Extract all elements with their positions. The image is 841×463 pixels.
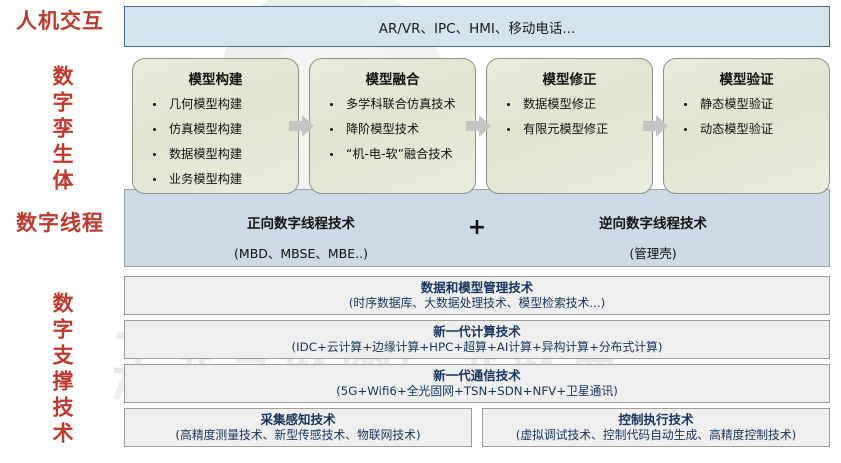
digital-twin-list-item: 数据模型修正 bbox=[493, 97, 646, 111]
digital-twin-box-list: 数据模型修正有限元模型修正 bbox=[493, 97, 646, 136]
rail-label-hmi: 人机交互 bbox=[0, 10, 120, 32]
rail-label-digital-twin: 数字孪生体 bbox=[47, 60, 73, 200]
support-tech-subtitle: (虚拟调试技术、控制代码自动生成、高精度控制技术) bbox=[516, 428, 797, 443]
support-tech-title: 控制执行技术 bbox=[618, 412, 693, 428]
layer-label-rail: 人机交互 数字孪生体 数字线程 数字支撑技术 bbox=[0, 0, 120, 463]
support-tech-title: 数据和模型管理技术 bbox=[421, 280, 534, 296]
support-tech-subtitle: (IDC+云计算+边缘计算+HPC+超算+AI计算+异构计算+分布式计算) bbox=[292, 340, 663, 355]
support-tech-box[interactable]: 新一代通信技术(5G+Wifi6+全光固网+TSN+SDN+NFV+卫星通讯) bbox=[124, 364, 830, 403]
right-arrow-icon bbox=[643, 114, 669, 138]
digital-twin-list-item: 数据模型构建 bbox=[139, 147, 292, 161]
rail-label-digital-thread: 数字线程 bbox=[0, 212, 120, 234]
digital-thread-band: 正向数字线程技术 (MBD、MBSE、MBE..) + 逆向数字线程技术 (管理… bbox=[124, 189, 830, 267]
digital-thread-reverse: 逆向数字线程技术 (管理壳) bbox=[477, 212, 829, 262]
digital-twin-box-2[interactable]: 模型融合多学科联合仿真技术降阶模型技术“机-电-软”融合技术 bbox=[309, 58, 476, 194]
support-tech-box[interactable]: 数据和模型管理技术(时序数据库、大数据处理技术、模型检索技术...) bbox=[124, 276, 830, 315]
support-tech-row: 新一代计算技术(IDC+云计算+边缘计算+HPC+超算+AI计算+异构计算+分布… bbox=[124, 320, 830, 359]
digital-twin-box-3[interactable]: 模型修正数据模型修正有限元模型修正 bbox=[486, 58, 653, 194]
digital-twin-list-item: 仿真模型构建 bbox=[139, 122, 292, 136]
support-tech-subtitle: (高精度测量技术、新型传感技术、物联网技术) bbox=[175, 428, 420, 443]
digital-thread-forward-title: 正向数字线程技术 bbox=[125, 212, 477, 232]
support-tech-box[interactable]: 新一代计算技术(IDC+云计算+边缘计算+HPC+超算+AI计算+异构计算+分布… bbox=[124, 320, 830, 359]
digital-thread-reverse-subtitle: (管理壳) bbox=[477, 243, 829, 262]
digital-twin-row: 模型构建几何模型构建仿真模型构建数据模型构建业务模型构建模型融合多学科联合仿真技… bbox=[132, 58, 830, 198]
digital-twin-list-item: 几何模型构建 bbox=[139, 97, 292, 111]
diagram-root: 工业互联网产业联盟 Alliance of Industrial Interne… bbox=[0, 0, 841, 463]
digital-twin-list-item: 降阶模型技术 bbox=[316, 122, 469, 136]
digital-twin-box-title: 模型修正 bbox=[493, 68, 646, 88]
digital-thread-forward-subtitle: (MBD、MBSE、MBE..) bbox=[125, 243, 477, 262]
digital-twin-box-1[interactable]: 模型构建几何模型构建仿真模型构建数据模型构建业务模型构建 bbox=[132, 58, 299, 194]
support-tech-box[interactable]: 控制执行技术(虚拟调试技术、控制代码自动生成、高精度控制技术) bbox=[482, 408, 830, 447]
support-tech-title: 新一代计算技术 bbox=[433, 324, 521, 340]
support-tech-subtitle: (5G+Wifi6+全光固网+TSN+SDN+NFV+卫星通讯) bbox=[336, 384, 618, 399]
digital-twin-list-item: 有限元模型修正 bbox=[493, 122, 646, 136]
digital-thread-reverse-title: 逆向数字线程技术 bbox=[477, 212, 829, 232]
digital-twin-list-item: 多学科联合仿真技术 bbox=[316, 97, 469, 111]
hmi-layer-box: AR/VR、IPC、HMI、移动电话... bbox=[124, 6, 830, 47]
rail-label-digital-support: 数字支撑技术 bbox=[47, 290, 73, 450]
digital-twin-box-title: 模型验证 bbox=[670, 68, 823, 88]
digital-twin-list-item: 业务模型构建 bbox=[139, 172, 292, 186]
support-tech-subtitle: (时序数据库、大数据处理技术、模型检索技术...) bbox=[349, 296, 605, 311]
support-tech-title: 采集感知技术 bbox=[260, 412, 335, 428]
digital-twin-box-list: 几何模型构建仿真模型构建数据模型构建业务模型构建 bbox=[139, 97, 292, 186]
digital-twin-box-list: 静态模型验证动态模型验证 bbox=[670, 97, 823, 136]
digital-twin-box-list: 多学科联合仿真技术降阶模型技术“机-电-软”融合技术 bbox=[316, 97, 469, 161]
diagram-content: AR/VR、IPC、HMI、移动电话... 正向数字线程技术 (MBD、MBSE… bbox=[124, 0, 832, 463]
digital-twin-list-item: 静态模型验证 bbox=[670, 97, 823, 111]
support-tech-stack: 数据和模型管理技术(时序数据库、大数据处理技术、模型检索技术...)新一代计算技… bbox=[124, 276, 830, 452]
digital-thread-forward: 正向数字线程技术 (MBD、MBSE、MBE..) bbox=[125, 212, 477, 262]
digital-twin-list-item: 动态模型验证 bbox=[670, 122, 823, 136]
support-tech-row: 新一代通信技术(5G+Wifi6+全光固网+TSN+SDN+NFV+卫星通讯) bbox=[124, 364, 830, 403]
digital-twin-box-title: 模型融合 bbox=[316, 68, 469, 88]
support-tech-box[interactable]: 采集感知技术(高精度测量技术、新型传感技术、物联网技术) bbox=[124, 408, 472, 447]
digital-twin-box-4[interactable]: 模型验证静态模型验证动态模型验证 bbox=[663, 58, 830, 194]
support-tech-title: 新一代通信技术 bbox=[433, 368, 521, 384]
right-arrow-icon bbox=[466, 114, 492, 138]
support-tech-row: 采集感知技术(高精度测量技术、新型传感技术、物联网技术)控制执行技术(虚拟调试技… bbox=[124, 408, 830, 447]
hmi-layer-label: AR/VR、IPC、HMI、移动电话... bbox=[379, 17, 575, 37]
digital-twin-list-item: “机-电-软”融合技术 bbox=[316, 147, 469, 161]
digital-twin-box-title: 模型构建 bbox=[139, 68, 292, 88]
support-tech-row: 数据和模型管理技术(时序数据库、大数据处理技术、模型检索技术...) bbox=[124, 276, 830, 315]
right-arrow-icon bbox=[289, 114, 315, 138]
